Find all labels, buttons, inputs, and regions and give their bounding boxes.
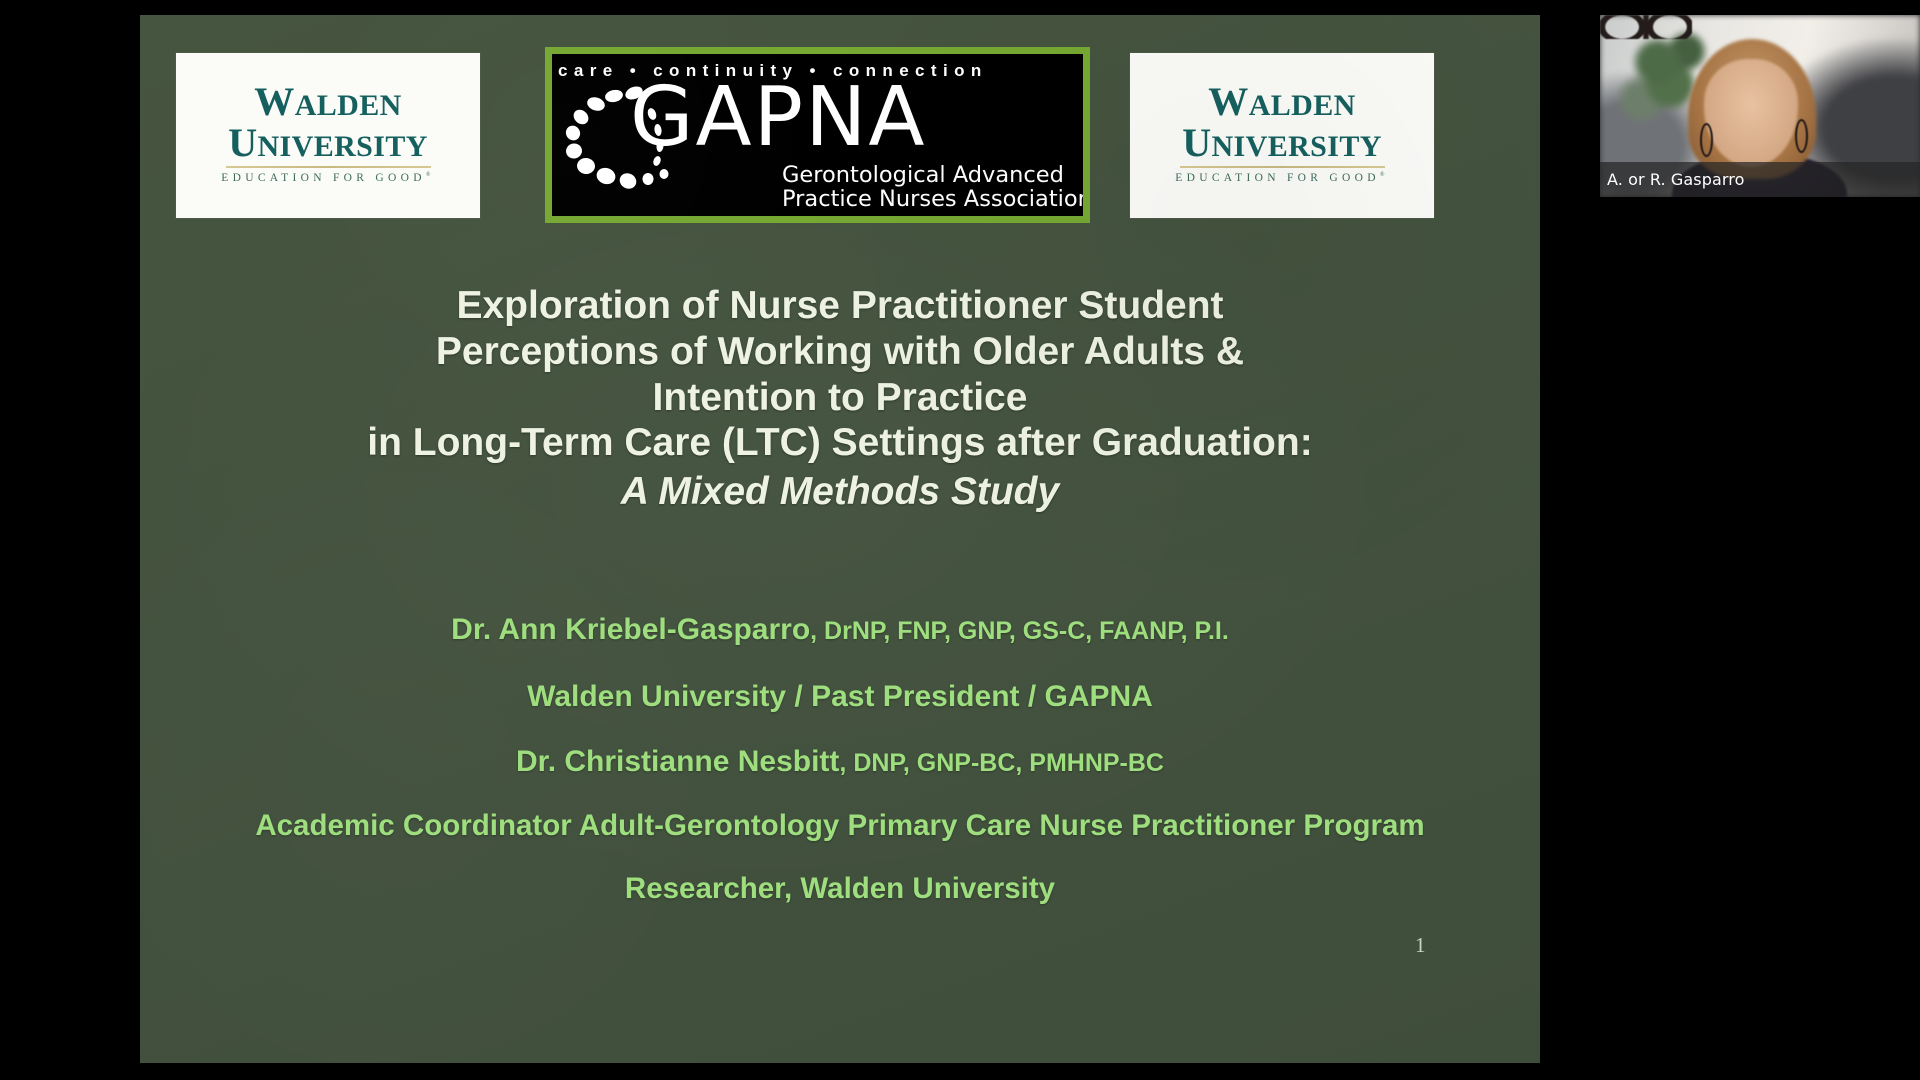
walden-registered-mark-left: ® [426,172,435,178]
walden-tagline-right: EDUCATION FOR GOOD® [1175,172,1388,184]
logo-row: WALDEN UNIVERSITY EDUCATION FOR GOOD® ca… [140,37,1540,212]
walden-rest-niversity-left: NIVERSITY [257,130,427,163]
gapna-subtitle-line1: Gerontological Advanced [782,164,1090,188]
title-line-2: Perceptions of Working with Older Adults… [200,329,1480,375]
presenter-2-role: Academic Coordinator Adult-Gerontology P… [185,809,1495,844]
presenter-2-name: Dr. Christianne Nesbitt [516,745,839,778]
walden-wordmark-line2-left: UNIVERSITY [221,123,434,163]
walden-wordmark-line1-right: WALDEN [1175,82,1388,122]
walden-university-logo-left: WALDEN UNIVERSITY EDUCATION FOR GOOD® [176,53,480,218]
presentation-slide[interactable]: WALDEN UNIVERSITY EDUCATION FOR GOOD® ca… [140,15,1540,1063]
walden-rest-alden-right: ALDEN [1249,89,1356,122]
walden-cap-u-left: U [228,120,257,165]
walden-cap-w-right: W [1208,79,1248,124]
participant-name-band: A. or R. Gasparro [1600,162,1920,197]
gapna-subtitle-line2: Practice Nurses Association [782,188,1090,212]
slide-number: 1 [1415,933,1426,958]
gapna-wordmark: GAPNA [630,77,927,159]
presenter-2-role-line2: Practitioner Program [1131,809,1424,842]
gapna-subtitle: Gerontological Advanced Practice Nurses … [782,164,1090,212]
walden-rest-alden-left: ALDEN [295,89,402,122]
walden-tagline-text-left: EDUCATION FOR GOOD [221,172,426,184]
gapna-logo: care • continuity • connection [545,47,1090,223]
presenter-1-name: Dr. Ann Kriebel-Gasparro [451,613,810,646]
walden-wordmark-line1-left: WALDEN [221,82,434,122]
walden-cap-w-left: W [254,79,294,124]
walden-university-logo-right: WALDEN UNIVERSITY EDUCATION FOR GOOD® [1130,53,1434,218]
presenter-2-credentials: , DNP, GNP-BC, PMHNP-BC [839,749,1164,777]
participant-earring-right [1795,119,1808,153]
title-line-4: in Long-Term Care (LTC) Settings after G… [200,420,1480,466]
author-block: Dr. Ann Kriebel-Gasparro, DrNP, FNP, GNP… [140,613,1540,906]
walden-divider-rule-left [226,166,431,168]
walden-wordmark-line2-right: UNIVERSITY [1175,123,1388,163]
screen-root: WALDEN UNIVERSITY EDUCATION FOR GOOD® ca… [0,0,1920,1080]
walden-logo-inner-right: WALDEN UNIVERSITY EDUCATION FOR GOOD® [1175,82,1388,184]
walden-cap-u-right: U [1182,120,1211,165]
title-subtitle-italic: A Mixed Methods Study [200,469,1480,515]
presenter-2-affiliation: Researcher, Walden University [185,872,1495,906]
participant-eyeglasses [1600,15,1692,39]
slide-title: Exploration of Nurse Practitioner Studen… [140,283,1540,515]
walden-tagline-left: EDUCATION FOR GOOD® [221,172,434,184]
walden-logo-inner-left: WALDEN UNIVERSITY EDUCATION FOR GOOD® [221,82,434,184]
walden-rest-niversity-right: NIVERSITY [1211,130,1381,163]
walden-tagline-text-right: EDUCATION FOR GOOD [1175,172,1380,184]
title-line-3: Intention to Practice [200,375,1480,421]
title-line-1: Exploration of Nurse Practitioner Studen… [200,283,1480,329]
presenter-1-line: Dr. Ann Kriebel-Gasparro, DrNP, FNP, GNP… [185,613,1495,647]
participant-video-tile[interactable]: A. or R. Gasparro [1600,15,1920,197]
participant-name-label: A. or R. Gasparro [1600,170,1745,189]
walden-divider-rule-right [1180,166,1385,168]
presenter-1-credentials: , DrNP, FNP, GNP, GS-C, FAANP, P.I. [810,617,1229,645]
participant-earring-left [1700,123,1713,157]
presenter-2-line: Dr. Christianne Nesbitt, DNP, GNP-BC, PM… [185,745,1495,779]
walden-registered-mark-right: ® [1380,172,1389,178]
presenter-2-role-line1: Academic Coordinator Adult-Gerontology P… [255,809,1123,842]
presenter-1-affiliation: Walden University / Past President / GAP… [185,680,1495,714]
